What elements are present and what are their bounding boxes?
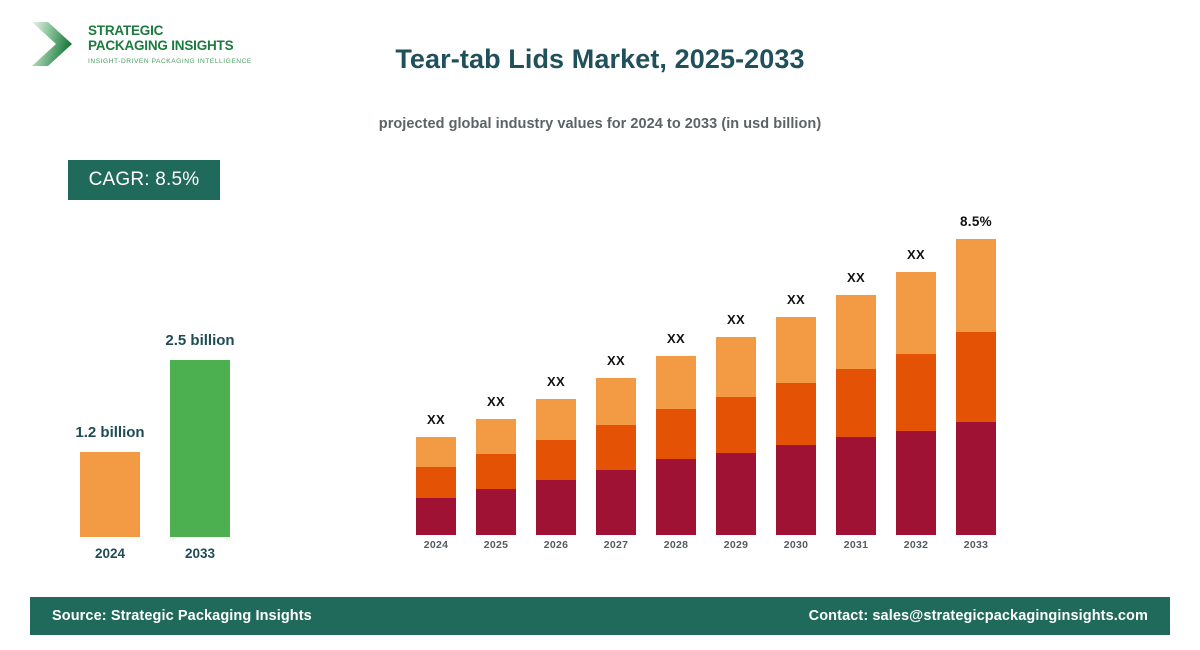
stacked-segment-segment-3-2033 <box>956 239 996 332</box>
stacked-segment-segment-3-2031 <box>836 295 876 369</box>
stacked-value-label-2031: XX <box>826 270 886 285</box>
stacked-bar-2031 <box>836 295 876 535</box>
stacked-value-label-2024: XX <box>406 412 466 427</box>
stacked-segment-segment-2-2033 <box>956 332 996 422</box>
stacked-segment-segment-3-2032 <box>896 272 936 354</box>
stacked-value-label-2029: XX <box>706 312 766 327</box>
stacked-segment-segment-1-2026 <box>536 480 576 535</box>
stacked-segment-segment-3-2026 <box>536 399 576 440</box>
stacked-value-label-2026: XX <box>526 374 586 389</box>
stacked-segment-segment-3-2025 <box>476 419 516 454</box>
stacked-segment-segment-1-2024 <box>416 498 456 535</box>
stacked-segment-segment-2-2030 <box>776 383 816 445</box>
stacked-segment-segment-3-2027 <box>596 378 636 425</box>
stacked-segment-segment-2-2032 <box>896 354 936 431</box>
stacked-bar-2024 <box>416 437 456 535</box>
stacked-segment-segment-1-2028 <box>656 459 696 535</box>
stacked-year-label-2031: 2031 <box>826 539 886 551</box>
stacked-year-label-2032: 2032 <box>886 539 946 551</box>
stacked-year-label-2030: 2030 <box>766 539 826 551</box>
stacked-segment-segment-3-2028 <box>656 356 696 409</box>
footer-source: Source: Strategic Packaging Insights <box>52 608 312 624</box>
stacked-segment-segment-2-2024 <box>416 467 456 498</box>
stacked-segment-segment-1-2030 <box>776 445 816 535</box>
stacked-year-label-2026: 2026 <box>526 539 586 551</box>
stacked-value-label-2027: XX <box>586 353 646 368</box>
stacked-value-label-2032: XX <box>886 247 946 262</box>
stacked-segment-segment-2-2026 <box>536 440 576 480</box>
stacked-segment-segment-1-2033 <box>956 422 996 535</box>
stacked-segment-segment-3-2029 <box>716 337 756 397</box>
footer-bar: Source: Strategic Packaging Insights Con… <box>30 597 1170 635</box>
stacked-value-label-2033: 8.5% <box>946 214 1006 229</box>
stacked-bar-2027 <box>596 378 636 535</box>
stacked-year-label-2028: 2028 <box>646 539 706 551</box>
stacked-segment-segment-2-2029 <box>716 397 756 453</box>
stacked-segment-segment-2-2028 <box>656 409 696 459</box>
stacked-year-label-2025: 2025 <box>466 539 526 551</box>
stacked-segment-segment-3-2024 <box>416 437 456 467</box>
stacked-value-label-2028: XX <box>646 331 706 346</box>
stacked-segment-segment-1-2029 <box>716 453 756 535</box>
stacked-segment-segment-2-2027 <box>596 425 636 470</box>
stacked-year-label-2027: 2027 <box>586 539 646 551</box>
stacked-value-label-2025: XX <box>466 394 526 409</box>
stacked-segment-segment-2-2025 <box>476 454 516 489</box>
stacked-bar-2025 <box>476 419 516 535</box>
stacked-segment-segment-1-2025 <box>476 489 516 535</box>
stacked-segment-segment-2-2031 <box>836 369 876 437</box>
stacked-segment-segment-3-2030 <box>776 317 816 383</box>
chart-page: STRATEGIC PACKAGING INSIGHTS INSIGHT-DRI… <box>0 0 1200 650</box>
stacked-bar-chart: XX2024XX2025XX2026XX2027XX2028XX2029XX20… <box>0 0 1200 650</box>
stacked-bar-2030 <box>776 317 816 535</box>
stacked-segment-segment-1-2031 <box>836 437 876 535</box>
stacked-value-label-2030: XX <box>766 292 826 307</box>
footer-contact: Contact: sales@strategicpackaginginsight… <box>809 608 1148 624</box>
stacked-bar-2033 <box>956 239 996 535</box>
stacked-bar-2026 <box>536 399 576 535</box>
stacked-year-label-2024: 2024 <box>406 539 466 551</box>
stacked-year-label-2029: 2029 <box>706 539 766 551</box>
stacked-segment-segment-1-2032 <box>896 431 936 535</box>
stacked-bar-2032 <box>896 272 936 535</box>
stacked-bar-2029 <box>716 337 756 535</box>
stacked-year-label-2033: 2033 <box>946 539 1006 551</box>
stacked-bar-2028 <box>656 356 696 535</box>
stacked-segment-segment-1-2027 <box>596 470 636 535</box>
